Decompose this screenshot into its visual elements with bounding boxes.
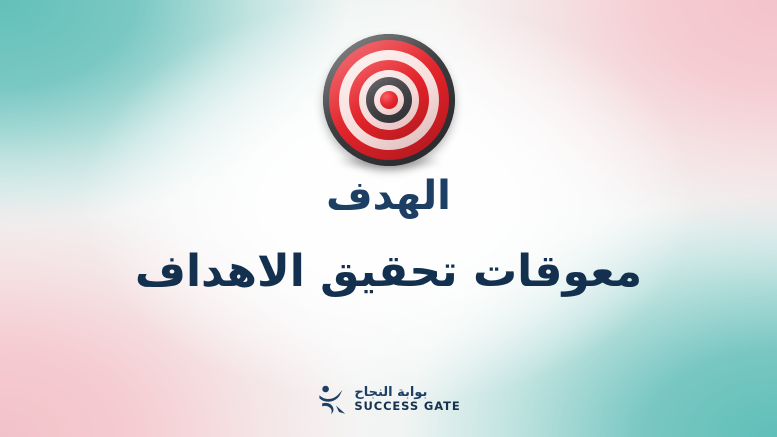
footer-brand-english-name: SUCCESS GATE [354, 400, 460, 412]
running-figure-icon [316, 383, 346, 415]
page-title: معوقات تحقيق الاهداف [0, 246, 777, 298]
footer-brand-text: بوابة النجاح SUCCESS GATE [354, 386, 460, 412]
slide-content: الهدف معوقات تحقيق الاهداف بوابة النجاح … [0, 0, 777, 437]
footer-brand-arabic-name: بوابة النجاح [354, 386, 427, 400]
slide-canvas: الهدف معوقات تحقيق الاهداف بوابة النجاح … [0, 0, 777, 437]
target-bullseye-center [380, 91, 398, 109]
target-rings [323, 34, 455, 166]
target-bullseye-icon [323, 34, 455, 166]
brand-logotype: الهدف [326, 176, 451, 216]
brand-lockup: الهدف [0, 34, 777, 216]
footer-brand-lockup: بوابة النجاح SUCCESS GATE [0, 383, 777, 415]
